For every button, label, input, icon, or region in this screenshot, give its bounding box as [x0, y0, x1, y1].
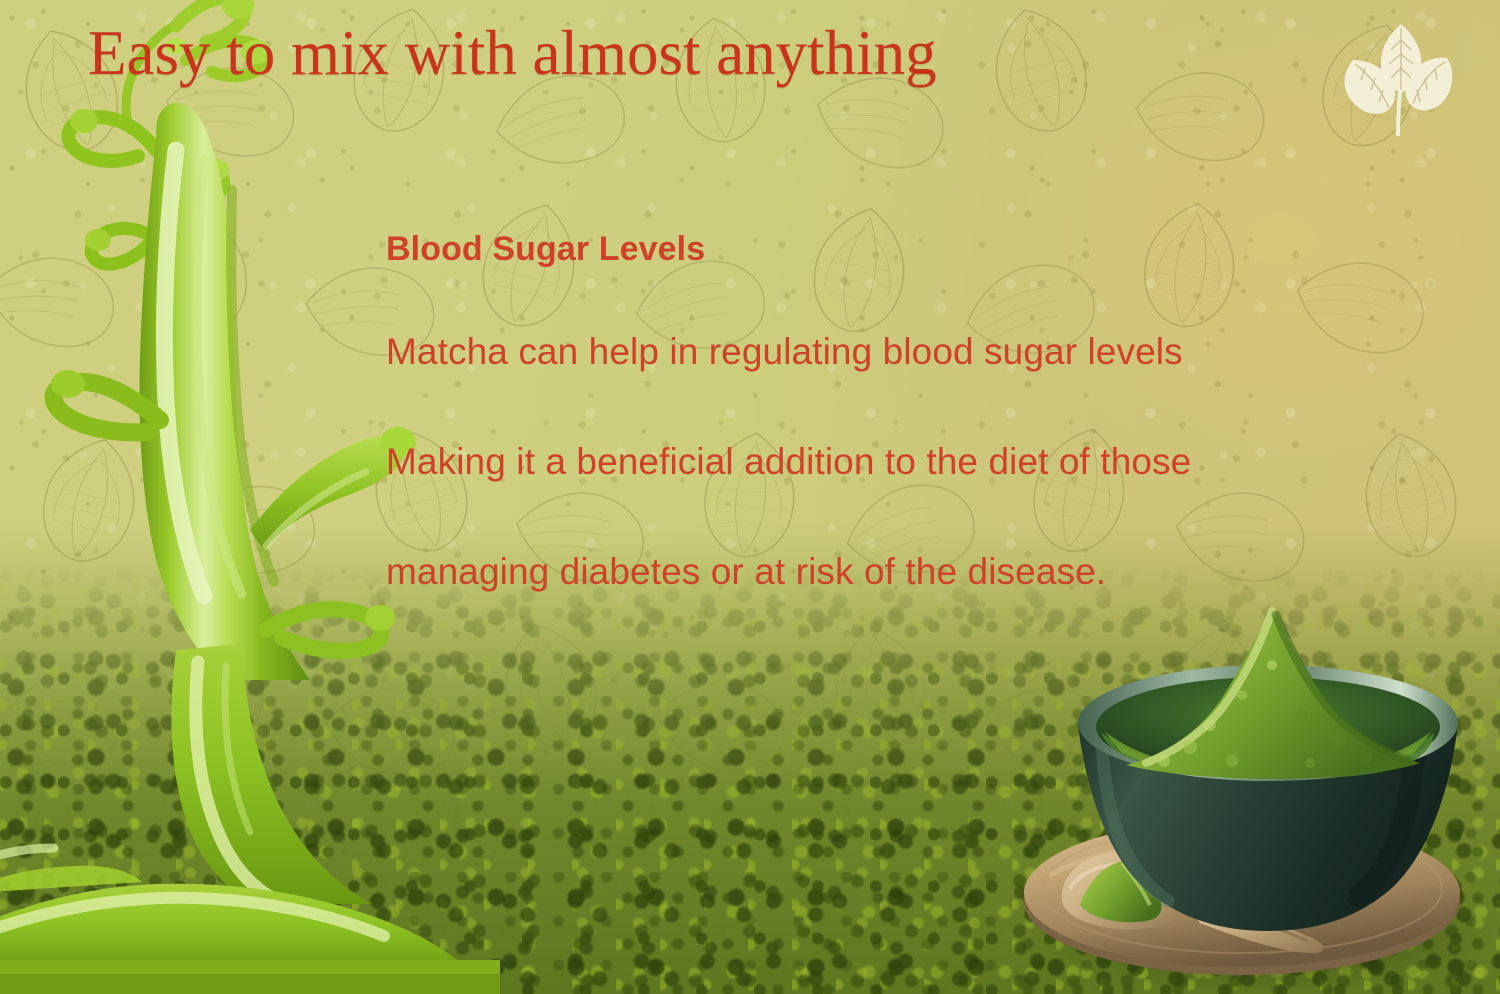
bullet-line-2: Making it a beneficial addition to the d…	[386, 441, 1446, 483]
page-title: Easy to mix with almost anything	[88, 20, 937, 86]
bullet-line-1: Matcha can help in regulating blood suga…	[386, 331, 1446, 373]
bullet-line-3: managing diabetes or at risk of the dise…	[386, 551, 1446, 593]
matcha-slide: Easy to mix with almost anything Blood S…	[0, 0, 1500, 994]
content-text-block: Blood Sugar Levels Matcha can help in re…	[386, 230, 1446, 593]
leaf-sprig-logo-icon	[1343, 12, 1455, 137]
bullet-heading: Blood Sugar Levels	[386, 230, 1446, 269]
matcha-bowl-with-spoon-icon	[1010, 575, 1500, 994]
